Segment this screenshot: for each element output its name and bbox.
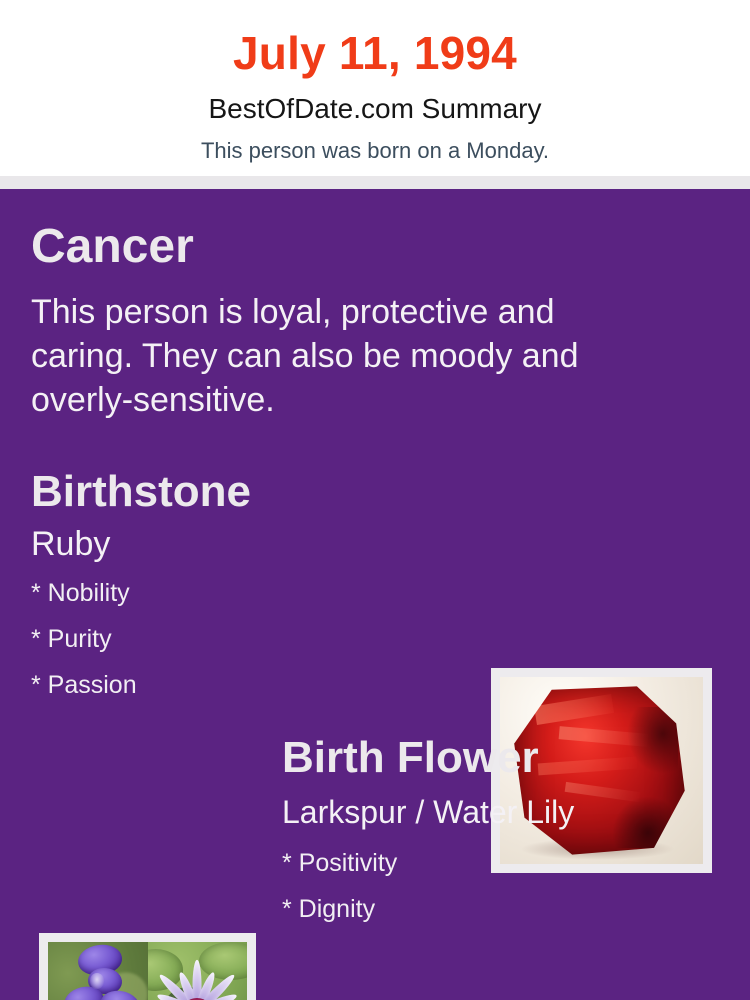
- birth-flower-image: [48, 942, 247, 1000]
- flower-composite: [48, 942, 247, 1000]
- birth-flower-trait-list: * Positivity * Dignity: [282, 851, 397, 943]
- page-title: July 11, 1994: [233, 30, 517, 76]
- water-lily-photo-half: [148, 942, 248, 1000]
- list-item: * Positivity: [282, 851, 397, 876]
- birthstone-trait-list: * Nobility * Purity * Passion: [31, 581, 137, 719]
- header-divider: [0, 176, 750, 189]
- birth-flower-name: Larkspur / Water Lily: [282, 796, 574, 828]
- larkspur-photo-half: [48, 942, 148, 1000]
- birth-flower-image-frame: [39, 933, 256, 1000]
- list-item: * Dignity: [282, 897, 397, 922]
- ruby-facet: [538, 757, 637, 776]
- ruby-facet: [534, 694, 614, 725]
- zodiac-sign-heading: Cancer: [31, 223, 194, 271]
- birthstone-heading: Birthstone: [31, 470, 251, 514]
- list-item: * Purity: [31, 627, 137, 652]
- list-item: * Passion: [31, 673, 137, 698]
- larkspur-highlight: [90, 973, 104, 989]
- list-item: * Nobility: [31, 581, 137, 606]
- born-day-text: This person was born on a Monday.: [201, 140, 549, 162]
- site-summary-subtitle: BestOfDate.com Summary: [209, 95, 542, 123]
- card-header: July 11, 1994 BestOfDate.com Summary Thi…: [0, 0, 750, 176]
- zodiac-description: This person is loyal, protective and car…: [31, 290, 651, 423]
- main-content-panel: Cancer This person is loyal, protective …: [0, 189, 750, 1000]
- birthstone-name: Ruby: [31, 527, 110, 561]
- birth-flower-heading: Birth Flower: [282, 736, 539, 780]
- date-summary-card: July 11, 1994 BestOfDate.com Summary Thi…: [0, 0, 750, 1000]
